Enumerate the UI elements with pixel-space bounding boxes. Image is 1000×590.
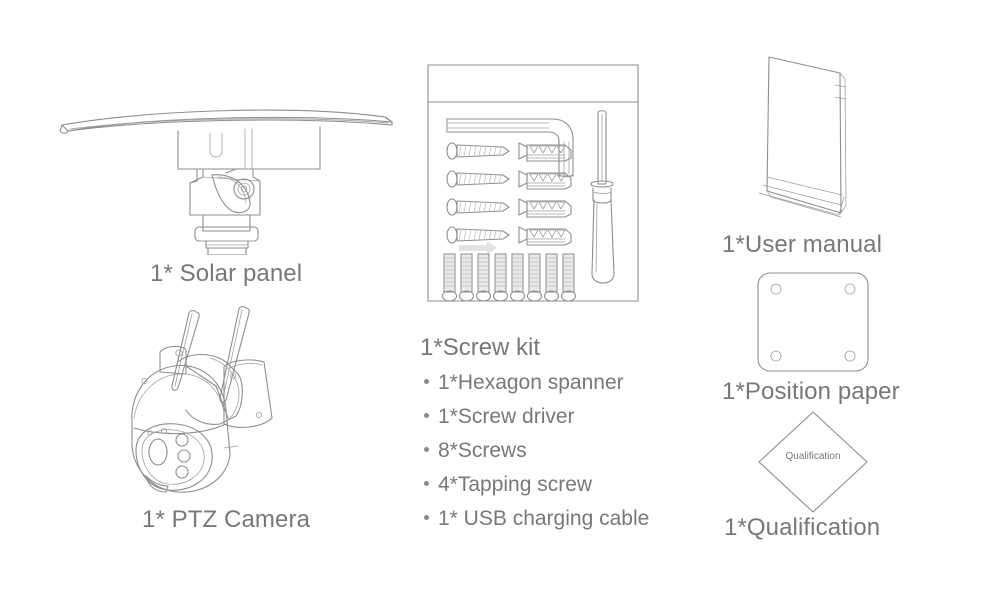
bolts-group (443, 254, 576, 301)
package-contents-canvas: 1* Solar panel (0, 0, 1000, 590)
screw-kit-svg (425, 62, 641, 304)
list-item-label: 1*Hexagon spanner (438, 372, 624, 393)
bullet-dot (424, 447, 429, 452)
screw-kit-title: 1*Screw kit (420, 336, 540, 360)
ptz-camera-svg (120, 300, 340, 500)
screw-kit-contents-list: 1*Hexagon spanner 1*Screw driver 8*Screw… (424, 372, 649, 542)
bullet-dot (424, 413, 429, 418)
list-item-label: 8*Screws (438, 440, 527, 461)
screw-kit-illustration (425, 62, 641, 304)
user-manual-illustration (745, 45, 875, 225)
bullet-dot (424, 515, 429, 520)
caption-qualification: 1*Qualification (724, 516, 880, 540)
list-item: 1*Hexagon spanner (424, 372, 649, 393)
bullet-dot (424, 379, 429, 384)
solar-panel-svg (40, 85, 400, 255)
bullet-dot (424, 481, 429, 486)
list-item: 8*Screws (424, 440, 649, 461)
list-item-label: 1*Screw driver (438, 406, 575, 427)
caption-position-paper: 1*Position paper (722, 380, 900, 404)
user-manual-svg (745, 45, 875, 225)
qualification-inner-label: Qualification (773, 452, 853, 462)
screwdriver (591, 111, 614, 283)
list-item-label: 4*Tapping screw (438, 474, 592, 495)
position-paper-illustration (755, 270, 875, 375)
caption-solar-panel: 1* Solar panel (150, 262, 302, 286)
list-item: 1*Screw driver (424, 406, 649, 427)
ptz-camera-illustration (120, 300, 340, 500)
list-item: 1* USB charging cable (424, 508, 649, 529)
wall-anchors-group (519, 143, 571, 245)
list-item-label: 1* USB charging cable (438, 508, 649, 529)
screws-group (447, 143, 509, 255)
caption-user-manual: 1*User manual (722, 233, 882, 257)
solar-panel-illustration (40, 85, 400, 255)
qualification-svg (755, 408, 871, 516)
list-item: 4*Tapping screw (424, 474, 649, 495)
qualification-illustration (755, 408, 871, 516)
position-paper-svg (755, 270, 875, 375)
caption-ptz-camera: 1* PTZ Camera (142, 508, 310, 532)
